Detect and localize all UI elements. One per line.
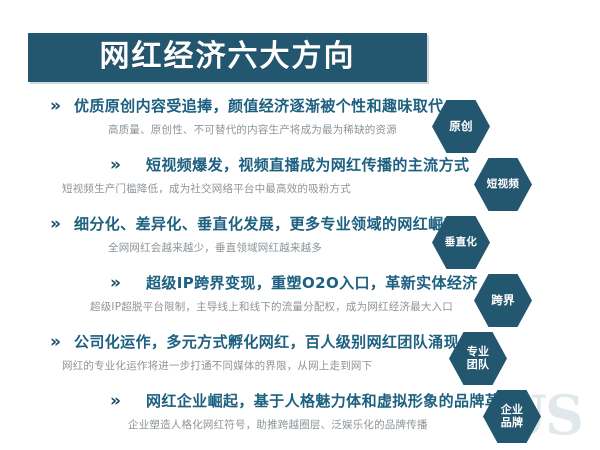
list-item-subtitle: 网红的专业化运作将进一步打通不同媒体的界限，从网上走到网下	[62, 361, 372, 372]
list-item-heading: » 网红企业崛起，基于人格魅力体和虚拟形象的品牌革命	[110, 393, 516, 410]
list-item-heading: » 优质原创内容受追捧，颜值经济逐渐被个性和趣味取代	[50, 98, 444, 115]
badge-label-line1: 跨界	[491, 294, 515, 307]
badge-label-line1: 垂直化	[445, 236, 477, 248]
list-item-subtitle: 短视频生产门槛降低，成为社交网络平台中最高效的吸粉方式	[62, 184, 351, 195]
chevron-double-right-icon: »	[50, 98, 60, 115]
badge-label-line2: 团队	[467, 359, 490, 372]
badge-label-line1: 企业	[501, 404, 524, 417]
list-item-heading: » 细分化、差异化、垂直化发展，更多专业领域的网红崛起	[50, 216, 459, 233]
badge-label-line1: 短视频	[487, 178, 519, 190]
list-item-headline: 网红企业崛起，基于人格魅力体和虚拟形象的品牌革命	[146, 394, 516, 409]
badge-label-line1: 原创	[449, 120, 473, 133]
list-item-headline: 短视频爆发，视频直播成为网红传播的主流方式	[146, 158, 469, 173]
badge-label-line2: 品牌	[501, 417, 524, 430]
list-item-subtitle: 企业塑造人格化网红符号，助推跨越圈层、泛娱乐化的品牌传播	[128, 420, 428, 431]
list-item: » 优质原创内容受追捧，颜值经济逐渐被个性和趣味取代 高质量、原创性、不可替代的…	[0, 92, 600, 151]
list-item-headline: 细分化、差异化、垂直化发展，更多专业领域的网红崛起	[74, 217, 459, 232]
list-item: » 公司化运作，多元方式孵化网红，百人级别网红团队涌现 网红的专业化运作将进一步…	[0, 328, 600, 387]
list-item-subtitle: 高质量、原创性、不可替代的内容生产将成为最为稀缺的资源	[108, 125, 397, 136]
list-item-subtitle: 超级IP超脱平台限制，主导线上和线下的流量分配权，成为网红经济最大入口	[90, 302, 453, 313]
chevron-double-right-icon: »	[50, 216, 60, 233]
chevron-double-right-icon: »	[110, 275, 120, 292]
chevron-double-right-icon: »	[110, 393, 120, 410]
chevron-double-right-icon: »	[50, 334, 60, 351]
list-item: » 细分化、差异化、垂直化发展，更多专业领域的网红崛起 全网网红会越来越少，垂直…	[0, 210, 600, 269]
list-item-headline: 优质原创内容受追捧，颜值经济逐渐被个性和趣味取代	[74, 99, 444, 114]
slide-canvas: US 网红经济六大方向 » 优质原创内容受追捧，颜值经济逐渐被个性和趣味取代 高…	[0, 0, 600, 450]
chevron-double-right-icon: »	[110, 157, 120, 174]
direction-list: » 优质原创内容受追捧，颜值经济逐渐被个性和趣味取代 高质量、原创性、不可替代的…	[0, 92, 600, 446]
title-bar: 网红经济六大方向	[28, 33, 427, 82]
page-title: 网红经济六大方向	[100, 42, 356, 74]
list-item-subtitle: 全网网红会越来越少，垂直领域网红越来越多	[108, 243, 322, 254]
list-item-heading: » 短视频爆发，视频直播成为网红传播的主流方式	[110, 157, 469, 174]
badge-label-line1: 专业	[467, 346, 490, 359]
list-item-headline: 超级IP跨界变现，重塑O2O入口，革新实体经济	[146, 276, 478, 291]
list-item-heading: » 超级IP跨界变现，重塑O2O入口，革新实体经济	[110, 275, 478, 292]
list-item-heading: » 公司化运作，多元方式孵化网红，百人级别网红团队涌现	[50, 334, 459, 351]
list-item-headline: 公司化运作，多元方式孵化网红，百人级别网红团队涌现	[74, 335, 459, 350]
